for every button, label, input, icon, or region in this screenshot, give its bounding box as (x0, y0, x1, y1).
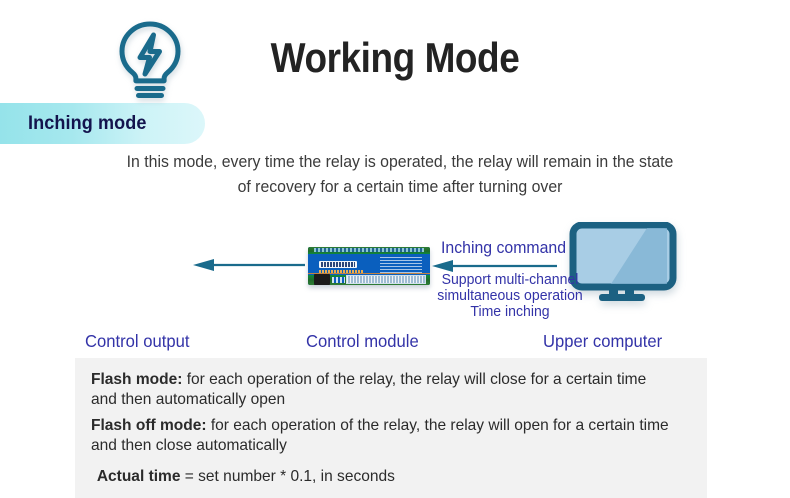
label-control-output: Control output (85, 331, 189, 352)
note-flash-mode: Flash mode: for each operation of the re… (91, 370, 673, 410)
board-spec-text (380, 257, 422, 274)
note-flash-mode-lead: Flash mode: (91, 371, 182, 388)
arrow-module-to-output (193, 258, 305, 272)
label-upper-computer: Upper computer (543, 331, 662, 352)
light-bulb-icon (112, 18, 188, 102)
note-actual-time-lead: Actual time (97, 468, 181, 485)
note-flash-off-mode: Flash off mode: for each operation of th… (91, 416, 673, 456)
support-note-label: Support multi-channel simultaneous opera… (432, 272, 587, 320)
note-actual-time: Actual time = set number * 0.1, in secon… (91, 467, 673, 487)
arrow-computer-to-module (432, 259, 557, 273)
board-bottom-terminals (346, 275, 426, 284)
note-flash-off-mode-lead: Flash off mode: (91, 417, 207, 434)
mode-badge-label: Inching mode (28, 113, 146, 135)
board-brand-text (321, 262, 355, 267)
board-io-dots (332, 277, 345, 283)
inching-command-label: Inching command (441, 239, 566, 258)
board-top-edge (308, 247, 430, 254)
label-control-module: Control module (306, 331, 419, 352)
board-top-terminals (314, 248, 424, 252)
mode-badge: Inching mode (0, 103, 205, 144)
board-connector (314, 274, 330, 285)
mode-description: In this mode, every time the relay is op… (126, 150, 673, 200)
note-actual-time-text: = set number * 0.1, in seconds (180, 468, 394, 485)
board-bottom-edge (308, 275, 430, 285)
notes-panel: Flash mode: for each operation of the re… (75, 358, 707, 498)
relay-board-icon (308, 247, 430, 285)
